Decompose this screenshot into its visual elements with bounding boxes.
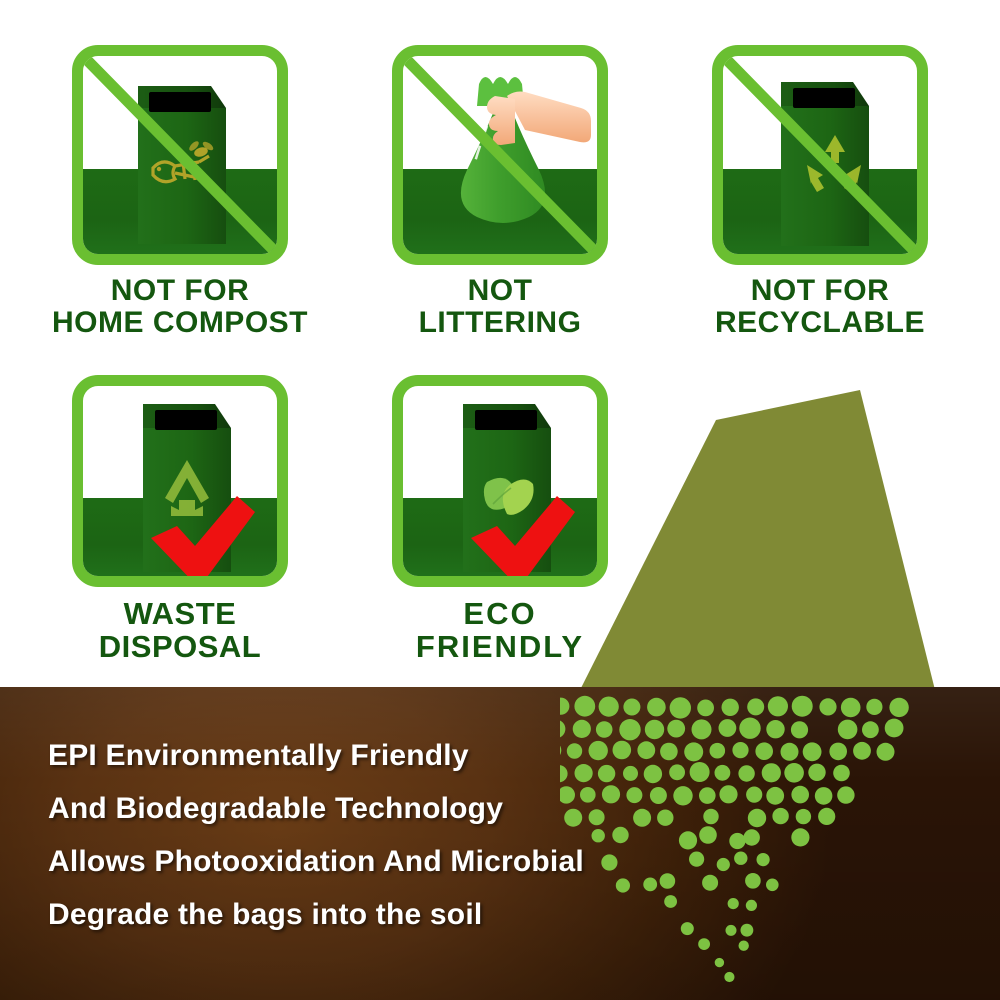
prohibition-slash-icon (723, 56, 928, 265)
dot (838, 720, 858, 740)
dot (669, 764, 685, 780)
dot (815, 787, 833, 805)
dot (732, 742, 748, 758)
dot (699, 826, 717, 844)
icon-panel-not-for-home-compost: NOT FOR HOME COMPOST (40, 45, 320, 340)
dot (574, 696, 595, 717)
dot (841, 698, 861, 718)
dot (689, 852, 704, 867)
caption-line-2: LITTERING (360, 307, 640, 339)
banner-line-3: Allows Photooxidation And Microbial (48, 835, 648, 888)
dot (744, 829, 760, 845)
dot (710, 743, 726, 759)
dot (699, 787, 716, 804)
prohibition-slash-icon (83, 56, 288, 265)
dot (726, 925, 737, 936)
dot (684, 742, 703, 761)
dot (837, 786, 854, 803)
icon-caption: NOT FOR RECYCLABLE (680, 275, 960, 340)
dot (829, 743, 847, 761)
dot (746, 900, 757, 911)
dot (862, 721, 879, 738)
icon-panel-not-littering: NOT LITTERING (360, 45, 640, 340)
dot (717, 858, 730, 871)
dot (781, 743, 799, 761)
dot (819, 698, 836, 715)
dot (866, 699, 882, 715)
dot (885, 719, 904, 738)
dot (719, 719, 737, 737)
dot (792, 696, 813, 717)
dot (670, 697, 691, 718)
dot (679, 831, 697, 849)
dot (803, 742, 822, 761)
caption-line-2: DISPOSAL (40, 630, 320, 663)
dot (889, 698, 908, 717)
soil-banner: EPI Environmentally Friendly And Biodegr… (0, 687, 1000, 1000)
dot (734, 852, 747, 865)
banner-line-2: And Biodegradable Technology (48, 782, 648, 835)
dot (724, 972, 734, 982)
dot (772, 808, 788, 824)
dot (722, 699, 739, 716)
banner-line-4: Degrade the bags into the soil (48, 888, 648, 941)
icon-caption: NOT FOR HOME COMPOST (40, 275, 320, 340)
dot (741, 924, 754, 937)
dot (796, 809, 811, 824)
dot (715, 765, 731, 781)
red-checkmark-icon (83, 386, 288, 587)
dot (791, 828, 809, 846)
caption-line-2: RECYCLABLE (680, 307, 960, 339)
dot (729, 833, 745, 849)
icon-frame (392, 45, 608, 265)
dot (660, 873, 676, 889)
dot (791, 721, 808, 738)
dot (599, 697, 619, 717)
dot (660, 743, 678, 761)
dot (647, 698, 666, 717)
dot (833, 765, 850, 782)
dot (877, 743, 895, 761)
caption-line-1: NOT (360, 275, 640, 307)
dot (719, 785, 737, 803)
icon-caption: WASTE DISPOSAL (40, 597, 320, 664)
icon-panel-waste-disposal: WASTE DISPOSAL (40, 375, 320, 664)
dot (755, 742, 773, 760)
icon-frame (712, 45, 928, 265)
caption-line-1: NOT FOR (680, 275, 960, 307)
dot (657, 810, 673, 826)
dot (808, 764, 825, 781)
banner-line-1: EPI Environmentally Friendly (48, 729, 648, 782)
dot (739, 718, 760, 739)
banner-text: EPI Environmentally Friendly And Biodegr… (48, 729, 648, 941)
dot (560, 698, 569, 715)
dot (690, 762, 710, 782)
dot (757, 853, 770, 866)
dot (853, 742, 871, 760)
prohibition-slash-icon (403, 56, 608, 265)
dot (768, 696, 788, 716)
dot (784, 763, 804, 783)
infographic-canvas: NOT FOR HOME COMPOST (0, 0, 1000, 1000)
icon-frame (72, 45, 288, 265)
dot (681, 922, 694, 935)
dot (664, 895, 677, 908)
dot (715, 958, 724, 967)
olive-bag-shape (560, 390, 1000, 720)
dot (791, 786, 809, 804)
dot (697, 700, 714, 717)
dot (739, 941, 749, 951)
dot (762, 763, 781, 782)
icon-frame (72, 375, 288, 587)
dot (692, 719, 712, 739)
dot (673, 786, 692, 805)
icon-panel-not-for-recyclable: NOT FOR RECYCLABLE (680, 45, 960, 340)
dot (702, 875, 718, 891)
dot (766, 787, 784, 805)
caption-line-1: NOT FOR (40, 275, 320, 307)
dot (667, 720, 685, 738)
caption-line-1: WASTE (40, 597, 320, 630)
caption-line-2: HOME COMPOST (40, 307, 320, 339)
icon-caption: NOT LITTERING (360, 275, 640, 340)
dot (623, 699, 640, 716)
dot (703, 809, 718, 824)
dot (747, 698, 764, 715)
dot (746, 787, 762, 803)
dot (766, 879, 779, 892)
dot (728, 898, 739, 909)
dot (745, 873, 761, 889)
dot (748, 809, 766, 827)
dot (738, 765, 754, 781)
dot (818, 808, 835, 825)
dot (698, 938, 710, 950)
dot (766, 720, 784, 738)
dot (650, 787, 667, 804)
